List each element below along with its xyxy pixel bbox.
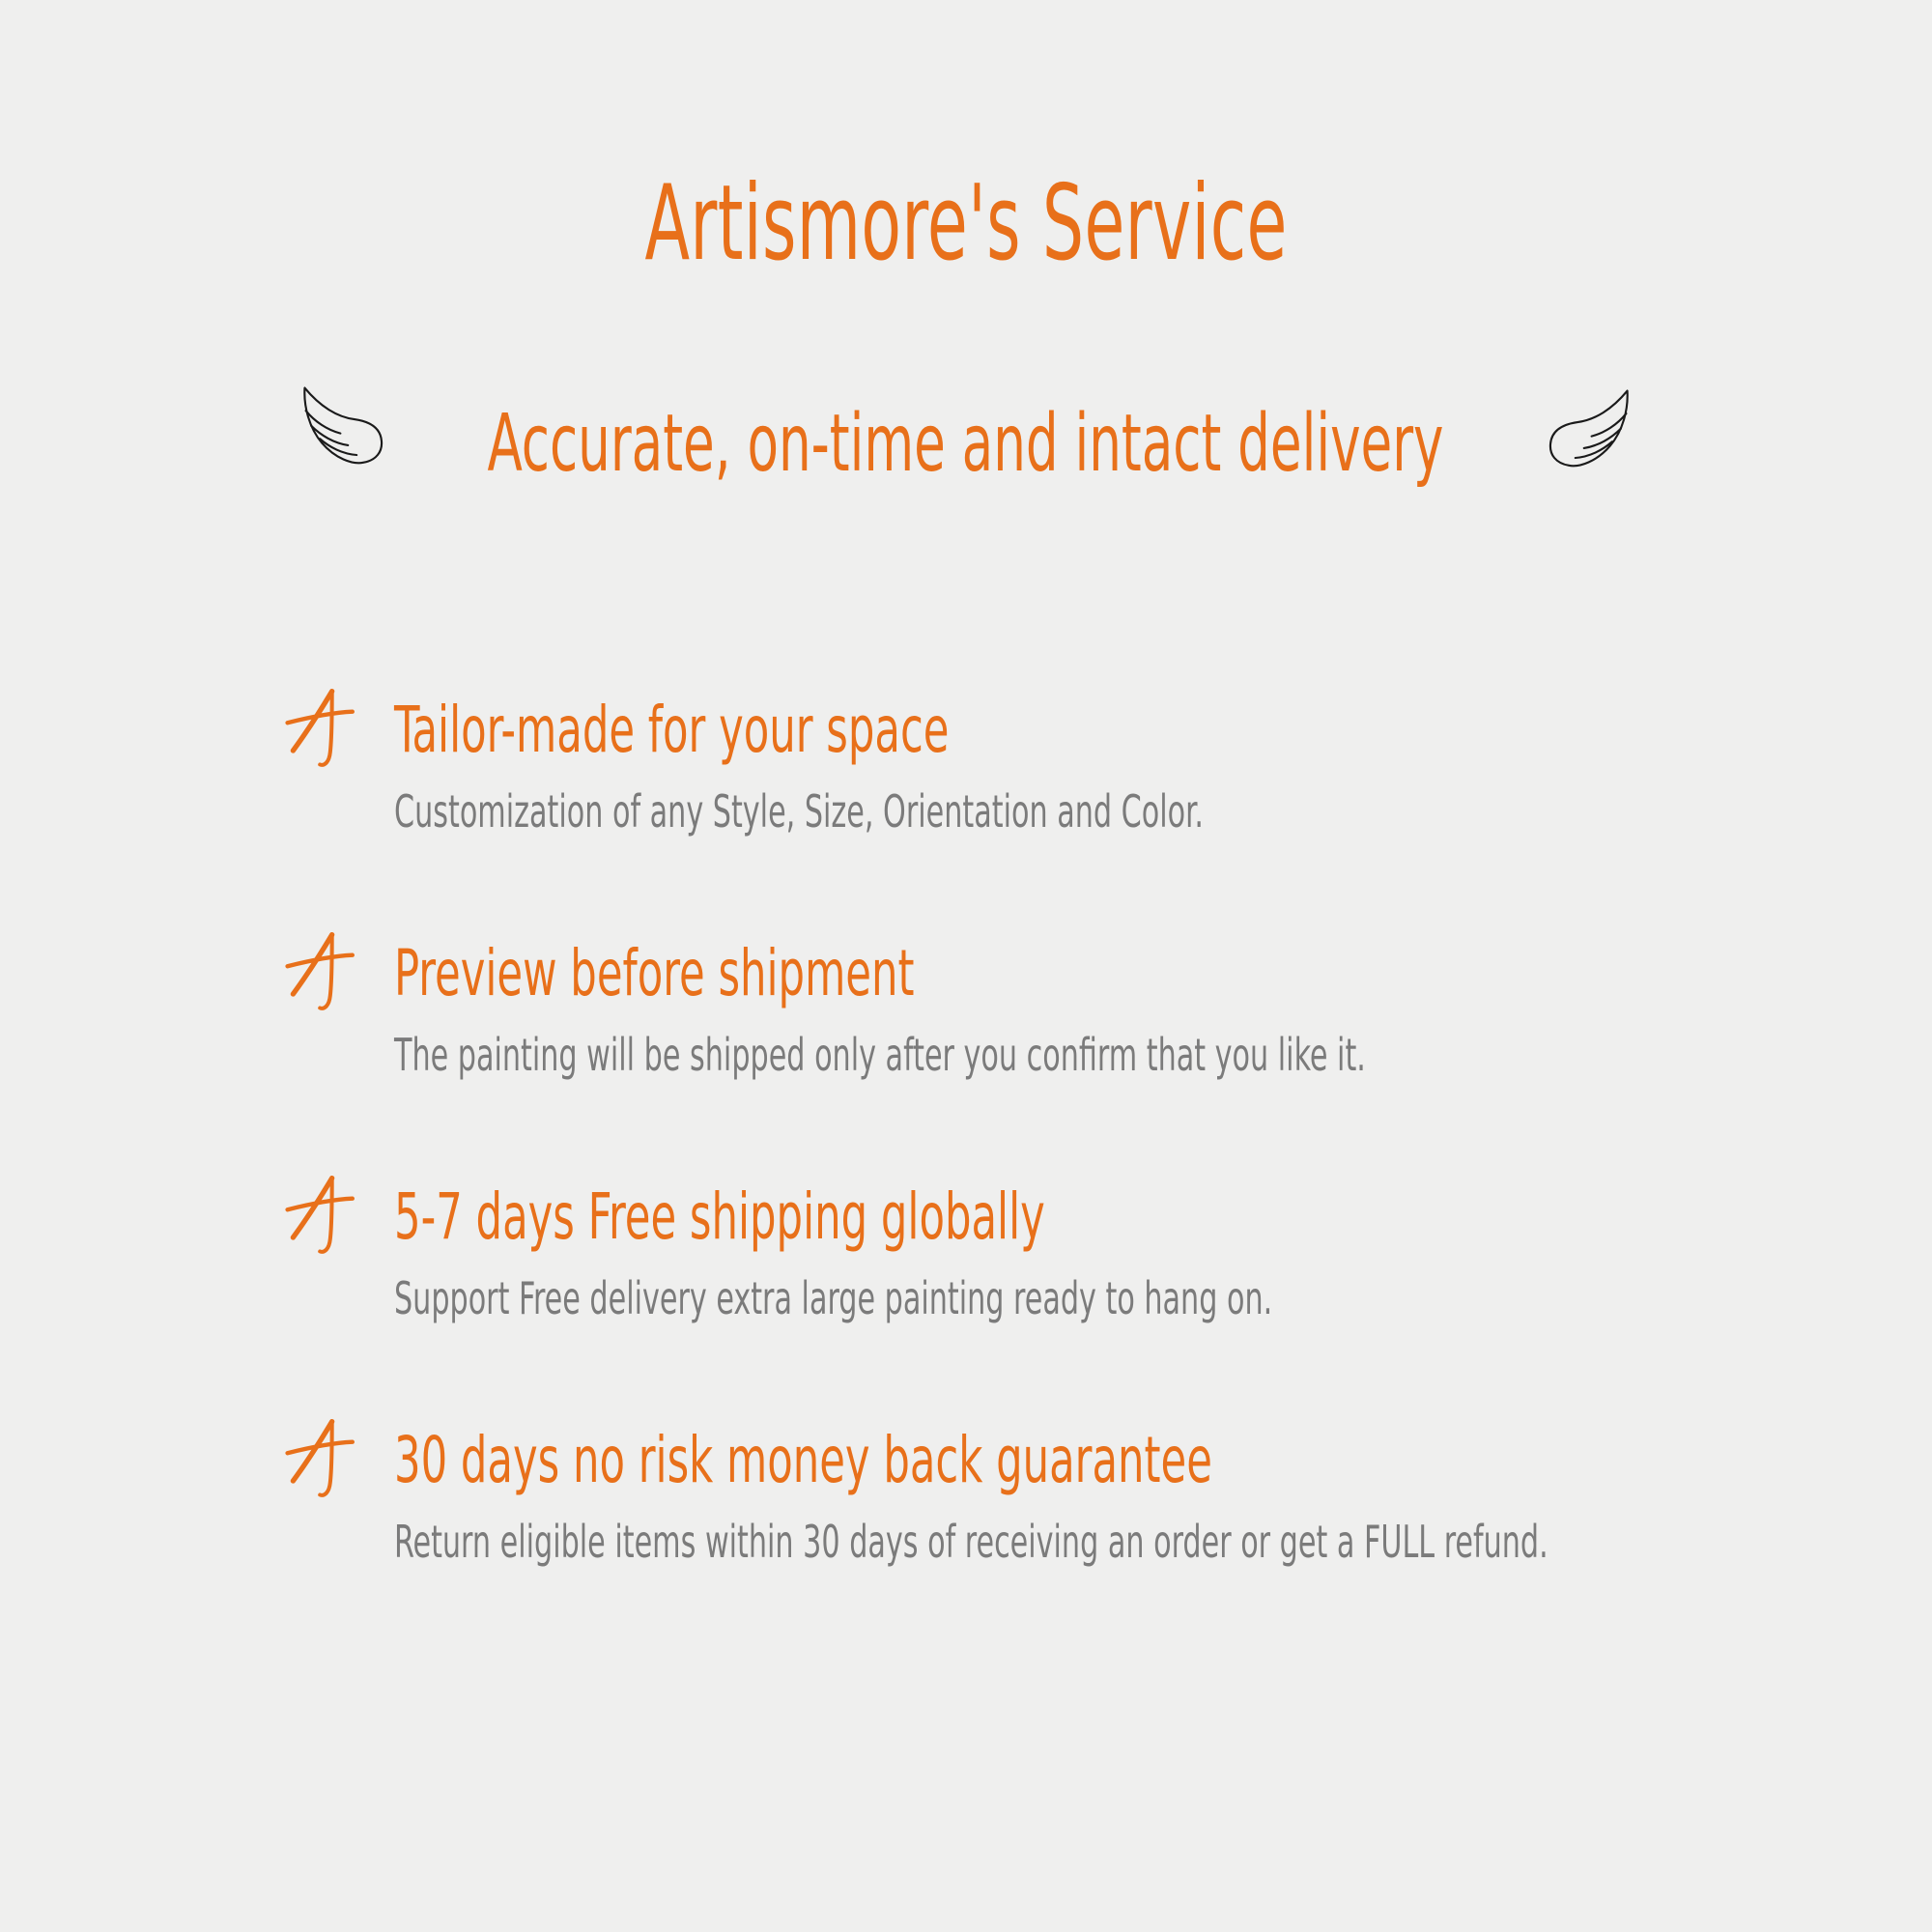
feature-title: 5-7 days Free shipping globally [394, 1182, 1466, 1251]
subtitle-text: Accurate, on-time and intact delivery [487, 405, 1443, 484]
script-a-icon [278, 925, 371, 1018]
script-a-icon [278, 1412, 371, 1505]
list-item: 5-7 days Free shipping globally Support … [278, 1182, 1862, 1323]
feature-description: The painting will be shipped only after … [394, 1031, 1466, 1080]
feature-description: Support Free delivery extra large painti… [394, 1274, 1466, 1323]
list-item: Preview before shipment The painting wil… [278, 939, 1862, 1080]
service-info-banner: Artismore's Service Accurate, on-time an… [0, 0, 1932, 1932]
feature-title: Tailor-made for your space [394, 696, 1466, 764]
list-item: 30 days no risk money back guarantee Ret… [278, 1426, 1862, 1567]
feature-list: Tailor-made for your space Customization… [278, 696, 1862, 1566]
feature-description: Customization of any Style, Size, Orient… [394, 787, 1466, 837]
wing-icon [1532, 377, 1640, 485]
page-title: Artismore's Service [644, 172, 1287, 276]
wing-icon [292, 374, 400, 482]
list-item: Tailor-made for your space Customization… [278, 696, 1862, 837]
script-a-icon [278, 682, 371, 775]
script-a-icon [278, 1169, 371, 1262]
feature-title: 30 days no risk money back guarantee [394, 1426, 1466, 1494]
feature-title: Preview before shipment [394, 939, 1466, 1008]
page-title-container: Artismore's Service [0, 172, 1932, 276]
subtitle-container: Accurate, on-time and intact delivery [0, 404, 1932, 485]
feature-description: Return eligible items within 30 days of … [394, 1518, 1466, 1567]
